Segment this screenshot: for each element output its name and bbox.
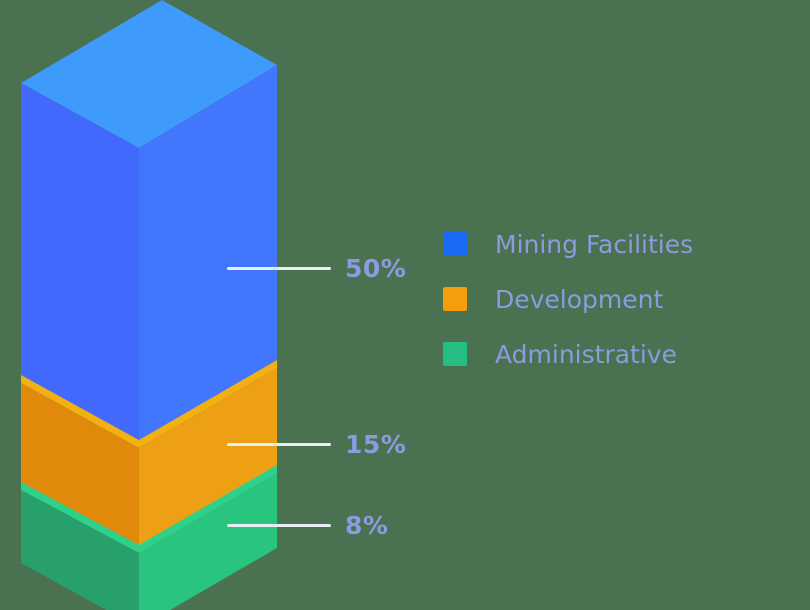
- leader-line-icon: [227, 267, 331, 270]
- callout-development[interactable]: 15%: [227, 432, 406, 457]
- legend-item-development[interactable]: Development: [443, 287, 773, 311]
- legend-swatch-icon-administrative: [443, 342, 467, 366]
- callout-mining-facilities[interactable]: 50%: [227, 256, 406, 281]
- legend-label-administrative: Administrative: [495, 342, 677, 367]
- leader-line-icon: [227, 524, 331, 527]
- callout-value-mining-facilities: 50%: [345, 256, 406, 281]
- leader-line-icon: [227, 443, 331, 446]
- legend-item-mining-facilities[interactable]: Mining Facilities: [443, 232, 773, 256]
- chart-legend: Mining Facilities Development Administra…: [443, 232, 773, 366]
- callout-administrative[interactable]: 8%: [227, 513, 388, 538]
- callout-value-administrative: 8%: [345, 513, 388, 538]
- legend-label-development: Development: [495, 287, 663, 312]
- legend-swatch-icon-development: [443, 287, 467, 311]
- legend-item-administrative[interactable]: Administrative: [443, 342, 773, 366]
- callout-value-development: 15%: [345, 432, 406, 457]
- legend-swatch-icon-mining-facilities: [443, 232, 467, 256]
- legend-label-mining-facilities: Mining Facilities: [495, 232, 693, 257]
- bar-segment-mining-facilities[interactable]: [21, 0, 277, 448]
- chart-canvas: 50% 15% 8% Mining Facilities Development…: [0, 0, 810, 610]
